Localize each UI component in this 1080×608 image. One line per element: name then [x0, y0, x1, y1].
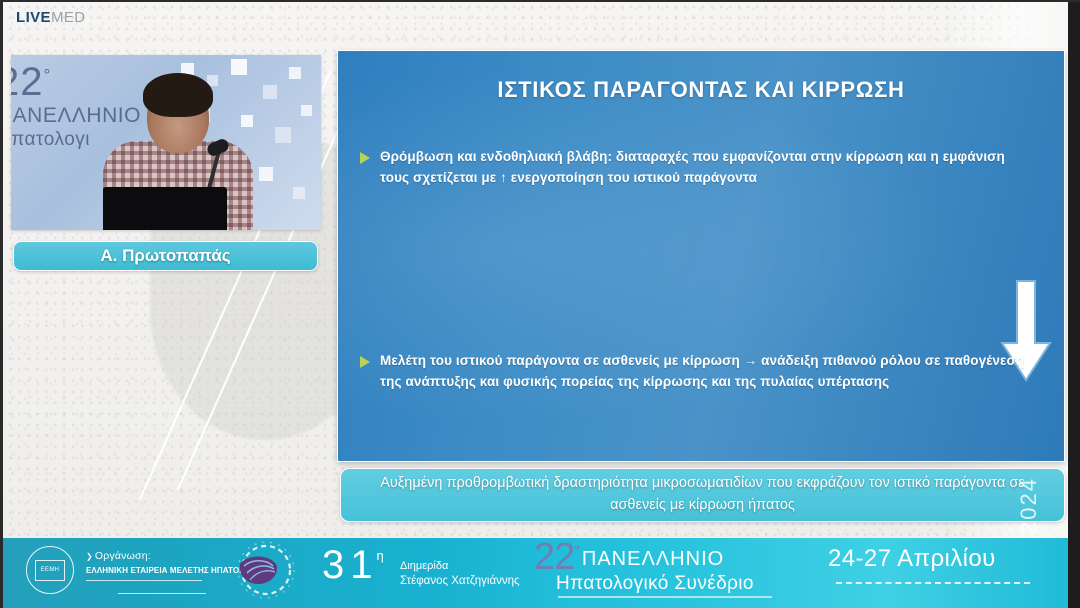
- bullet-arrow-icon: [360, 152, 370, 164]
- slide-caption-text: Αυξημένη προθρομβωτική δραστηριότητα μικ…: [369, 473, 1036, 517]
- organizer-name: ΕΛΛΗΝΙΚΗ ΕΤΑΙΡΕΙΑ ΜΕΛΕΤΗΣ ΗΠΑΤΟΣ: [86, 566, 244, 575]
- frame-edge-top: [0, 0, 1080, 2]
- dates-dashed-divider: [836, 582, 1030, 584]
- congress-title-block: 22 ° ΠΑΝΕΛΛΗΝΙΟ Ηπατολογικό Συνέδριο: [534, 540, 754, 595]
- liver-icon: [230, 540, 300, 600]
- slide-bullet-1-text: Θρόμβωση και ενδοθηλιακή βλάβη: διαταραχ…: [380, 147, 1034, 189]
- congress-dates: 24-27 Απριλίου: [828, 545, 996, 573]
- event-number-ordinal: η: [377, 548, 384, 563]
- slide-title: ΙΣΤΙΚΟΣ ΠΑΡΑΓΟΝΤΑΣ ΚΑΙ ΚΙΡΡΩΣΗ: [338, 77, 1064, 103]
- bullet-arrow-icon: [360, 356, 370, 368]
- event-type-label: Διημερίδα: [400, 560, 520, 574]
- speaker-video[interactable]: 22° ΠΑΝΕΛΛΗΝΙΟ Ηπατολογι: [11, 55, 321, 230]
- congress-title-row-1: 22 ° ΠΑΝΕΛΛΗΝΙΟ: [534, 540, 754, 575]
- organizer-divider: [118, 593, 206, 594]
- frame-edge-right: [1068, 0, 1080, 608]
- congress-line-2: Ηπατολογικό Συνέδριο: [556, 573, 754, 595]
- slide-bullet-2: Μελέτη του ιστικού παράγοντα σε ασθενείς…: [360, 351, 1034, 393]
- congress-underline: [558, 596, 772, 598]
- speaker-name-label: Α. Πρωτοπαπάς: [100, 246, 230, 266]
- eemh-logo: ΕΕΜΗ: [26, 546, 74, 594]
- speaker-hair: [143, 73, 213, 117]
- event-number-digits: 31: [322, 546, 379, 584]
- organizer-block: ❯Οργάνωση: ΕΛΛΗΝΙΚΗ ΕΤΑΙΡΕΙΑ ΜΕΛΕΤΗΣ ΗΠΑ…: [86, 550, 244, 575]
- congress-line-1: ΠΑΝΕΛΛΗΝΙΟ: [582, 548, 724, 571]
- eemh-logo-initials: ΕΕΜΗ: [35, 560, 65, 581]
- logo-live-text: LIVE: [16, 9, 51, 26]
- congress-number: 22: [534, 540, 574, 575]
- presentation-slide[interactable]: ΙΣΤΙΚΟΣ ΠΑΡΑΓΟΝΤΑΣ ΚΑΙ ΚΙΡΡΩΣΗ Θρόμβωση …: [337, 50, 1065, 462]
- event-number: 31 η: [322, 546, 384, 584]
- backdrop-text: 22° ΠΑΝΕΛΛΗΝΙΟ Ηπατολογι: [11, 61, 141, 150]
- laptop: [103, 187, 227, 230]
- backdrop-line-1: ΠΑΝΕΛΛΗΝΙΟ: [11, 105, 141, 127]
- event-person-label: Στέφανος Χατζηγιάννης: [400, 574, 520, 588]
- backdrop-number: 22°: [11, 61, 141, 103]
- congress-degree-symbol: °: [574, 542, 580, 558]
- livemed-logo: LIVEMED: [16, 9, 86, 26]
- frame-edge-left: [0, 0, 3, 608]
- congress-year: 2024: [1016, 477, 1042, 534]
- event-subtitle-block: Διημερίδα Στέφανος Χατζηγιάννης: [400, 560, 520, 588]
- logo-med-text: MED: [51, 9, 86, 26]
- organizer-label: ❯Οργάνωση:: [86, 550, 244, 562]
- slide-bullet-1: Θρόμβωση και ενδοθηλιακή βλάβη: διαταραχ…: [360, 147, 1034, 189]
- speaker-name-banner: Α. Πρωτοπαπάς: [13, 241, 318, 271]
- organizer-divider: [86, 580, 202, 581]
- slide-caption-box: Αυξημένη προθρομβωτική δραστηριότητα μικ…: [340, 468, 1065, 522]
- slide-bullet-2-text: Μελέτη του ιστικού παράγοντα σε ασθενείς…: [380, 351, 1034, 393]
- caret-icon: ❯: [86, 552, 93, 561]
